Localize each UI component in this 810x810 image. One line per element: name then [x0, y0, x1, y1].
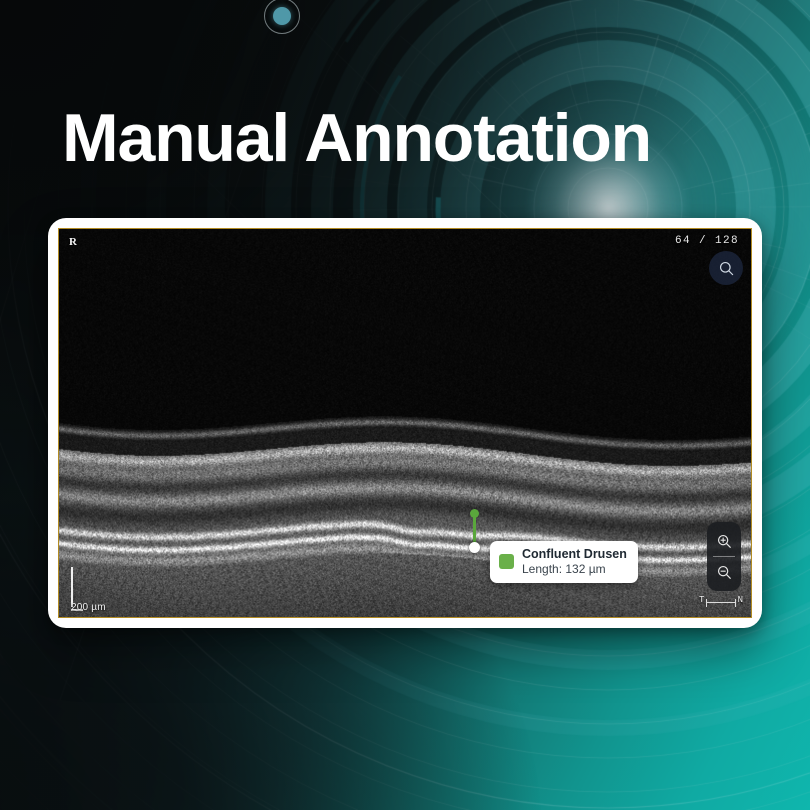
zoom-in-button[interactable]: [707, 526, 741, 556]
node-dot-icon: [273, 7, 291, 25]
annotation-measurement: Length: 132 µm: [522, 562, 627, 576]
orientation-label-nasal: N: [738, 595, 743, 605]
laterality-label: R: [69, 236, 77, 248]
zoom-controls: [707, 522, 741, 591]
poster-canvas: Manual Annotation R 64 / 128: [0, 0, 810, 810]
zoom-out-button[interactable]: [707, 557, 741, 587]
slice-counter: 64 / 128: [675, 235, 739, 247]
scale-bar-label: 200 µm: [71, 602, 106, 613]
annotation-label: Confluent Drusen: [522, 547, 627, 562]
zoom-in-icon: [716, 533, 733, 550]
annotation-measurement-marker[interactable]: [467, 509, 481, 553]
annotation-tooltip[interactable]: Confluent Drusen Length: 132 µm: [490, 541, 638, 583]
search-icon: [718, 260, 735, 277]
search-button[interactable]: [709, 251, 743, 285]
measurement-line: [473, 514, 476, 544]
orientation-label-temporal: T: [699, 595, 704, 605]
oct-viewer-card: R 64 / 128: [48, 218, 762, 628]
oct-bscan-image[interactable]: [59, 229, 751, 617]
orientation-indicator: T N: [699, 597, 743, 613]
node-marker-decoration: [264, 0, 300, 34]
page-title: Manual Annotation: [62, 104, 762, 172]
oct-image-frame[interactable]: R 64 / 128: [58, 228, 752, 618]
measurement-handle-bottom[interactable]: [469, 542, 480, 553]
annotation-color-swatch: [499, 554, 514, 569]
zoom-out-icon: [716, 564, 733, 581]
measurement-handle-top[interactable]: [470, 509, 479, 518]
annotation-tooltip-text: Confluent Drusen Length: 132 µm: [522, 547, 627, 576]
